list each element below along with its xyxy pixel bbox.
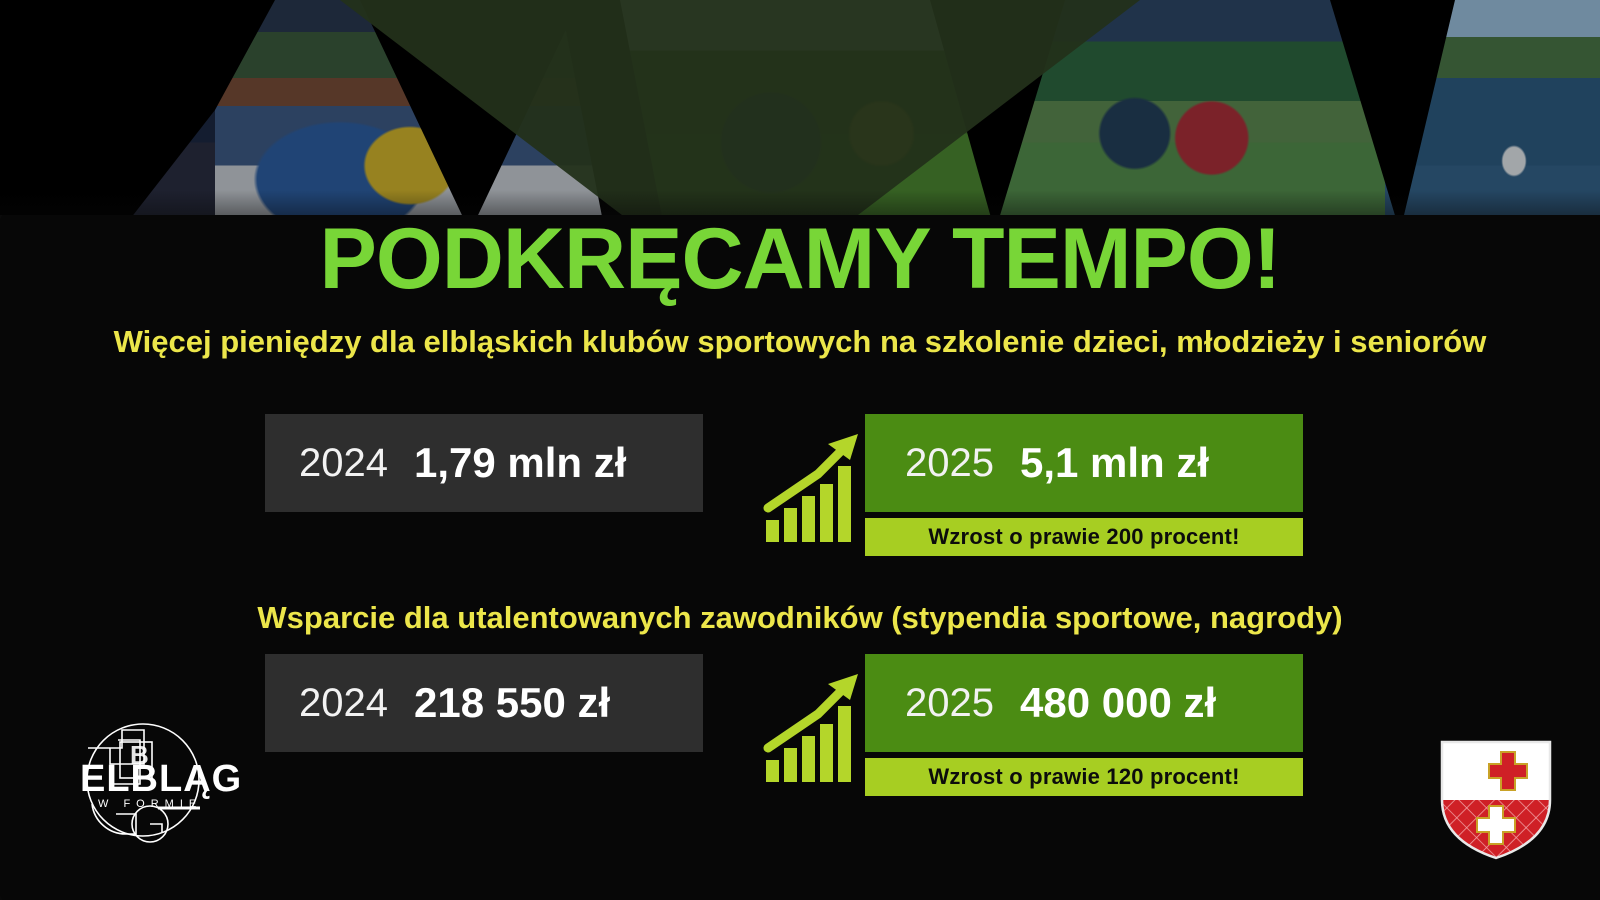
amount-box-2025-clubs: 2025 5,1 mln zł xyxy=(865,414,1303,512)
logo-tagline: W FORMIE xyxy=(98,798,202,810)
elblag-w-formie-logo: B ELBLĄG W FORMIE xyxy=(58,712,228,852)
growth-badge-2: Wzrost o prawie 120 procent! xyxy=(865,758,1303,796)
growth-badge-label-1: Wzrost o prawie 200 procent! xyxy=(928,524,1239,550)
page-title: PODKRĘCAMY TEMPO! xyxy=(0,216,1600,302)
infographic-poster: PODKRĘCAMY TEMPO! Więcej pieniędzy dla e… xyxy=(0,0,1600,900)
year-label-2025: 2025 xyxy=(905,681,994,726)
funding-row-1: 2024 1,79 mln zł 2025 5,1 mln zł Wzrost … xyxy=(0,414,1600,574)
amount-value-2024: 218 550 zł xyxy=(414,679,610,727)
section-subtitle-2: Wsparcie dla utalentowanych zawodników (… xyxy=(110,598,1490,639)
growth-badge-label-2: Wzrost o prawie 120 procent! xyxy=(928,764,1239,790)
amount-value-2024: 1,79 mln zł xyxy=(414,439,626,487)
amount-value-2025: 5,1 mln zł xyxy=(1020,439,1209,487)
year-label-2025: 2025 xyxy=(905,441,994,486)
amount-box-2024-scholarships: 2024 218 550 zł xyxy=(265,654,703,752)
amount-box-2024-clubs: 2024 1,79 mln zł xyxy=(265,414,703,512)
year-label-2024: 2024 xyxy=(299,441,388,486)
growth-chart-icon xyxy=(762,428,862,546)
growth-chart-icon xyxy=(762,668,862,786)
amount-box-2025-scholarships: 2025 480 000 zł xyxy=(865,654,1303,752)
growth-badge-1: Wzrost o prawie 200 procent! xyxy=(865,518,1303,556)
section-subtitle-1: Więcej pieniędzy dla elbląskich klubów s… xyxy=(110,322,1490,363)
amount-value-2025: 480 000 zł xyxy=(1020,679,1216,727)
year-label-2024: 2024 xyxy=(299,681,388,726)
logo-name: ELBLĄG xyxy=(80,760,242,798)
elblag-coat-of-arms-icon xyxy=(1437,738,1555,862)
